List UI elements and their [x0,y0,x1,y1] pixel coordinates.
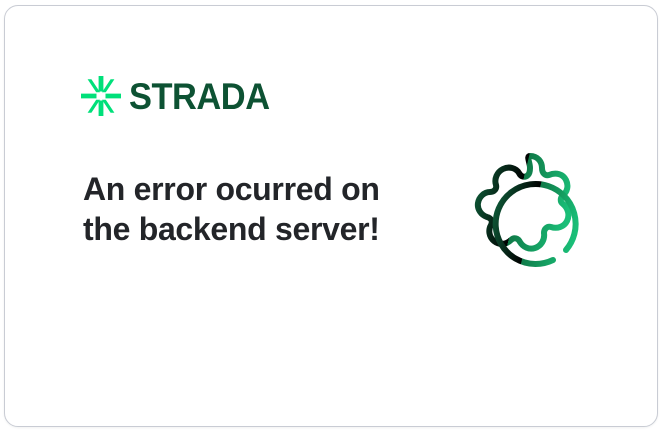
strada-asterisk-icon [81,76,121,116]
error-card: STRADA An error ocurred on the backend s… [4,5,658,427]
brand-wordmark: STRADA [129,78,270,115]
error-headline: An error ocurred on the backend server! [83,169,383,249]
gear-cog-icon [450,146,610,306]
error-page: STRADA An error ocurred on the backend s… [0,0,666,436]
brand-lockup: STRADA [81,76,280,116]
